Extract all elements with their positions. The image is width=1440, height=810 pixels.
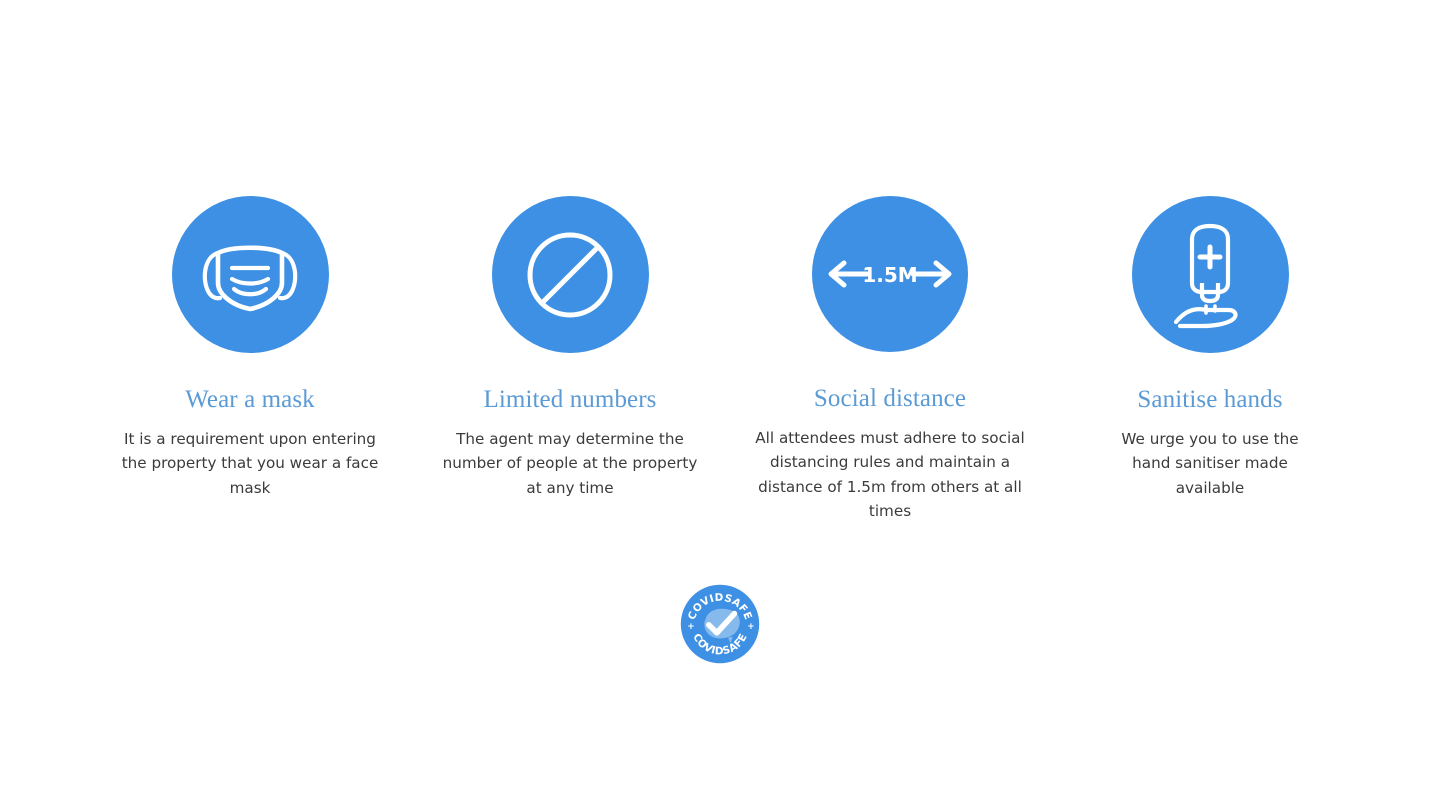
card-body: We urge you to use the hand sanitiser ma… <box>1110 427 1310 500</box>
card-title: Wear a mask <box>185 387 315 412</box>
guideline-card-sanitise-hands: Sanitise hands We urge you to use the ha… <box>1060 196 1360 500</box>
card-body: It is a requirement upon entering the pr… <box>121 427 379 500</box>
card-body: All attendees must adhere to social dist… <box>754 426 1026 523</box>
card-title: Sanitise hands <box>1137 387 1282 412</box>
card-body: The agent may determine the number of pe… <box>441 427 699 500</box>
plus-separator-right-icon: + <box>747 622 754 632</box>
social-distance-icon: 1.5M <box>812 196 968 352</box>
guideline-card-limited-numbers: Limited numbers The agent may determine … <box>420 196 720 500</box>
hand-sanitiser-icon <box>1132 196 1289 353</box>
card-title: Social distance <box>814 386 966 411</box>
safety-guidelines-board: Wear a mask It is a requirement upon ent… <box>0 0 1440 810</box>
covidsafe-badge: COVIDSAFE COVIDSAFE + + <box>680 584 760 664</box>
guideline-cards: Wear a mask It is a requirement upon ent… <box>100 196 1360 523</box>
plus-separator-left-icon: + <box>687 622 694 632</box>
distance-label: 1.5M <box>862 263 917 287</box>
guideline-card-social-distance: 1.5M Social distance All attendees must … <box>740 196 1040 523</box>
prohibition-icon <box>492 196 649 353</box>
guideline-card-wear-a-mask: Wear a mask It is a requirement upon ent… <box>100 196 400 500</box>
face-mask-icon <box>172 196 329 353</box>
card-title: Limited numbers <box>484 387 657 412</box>
